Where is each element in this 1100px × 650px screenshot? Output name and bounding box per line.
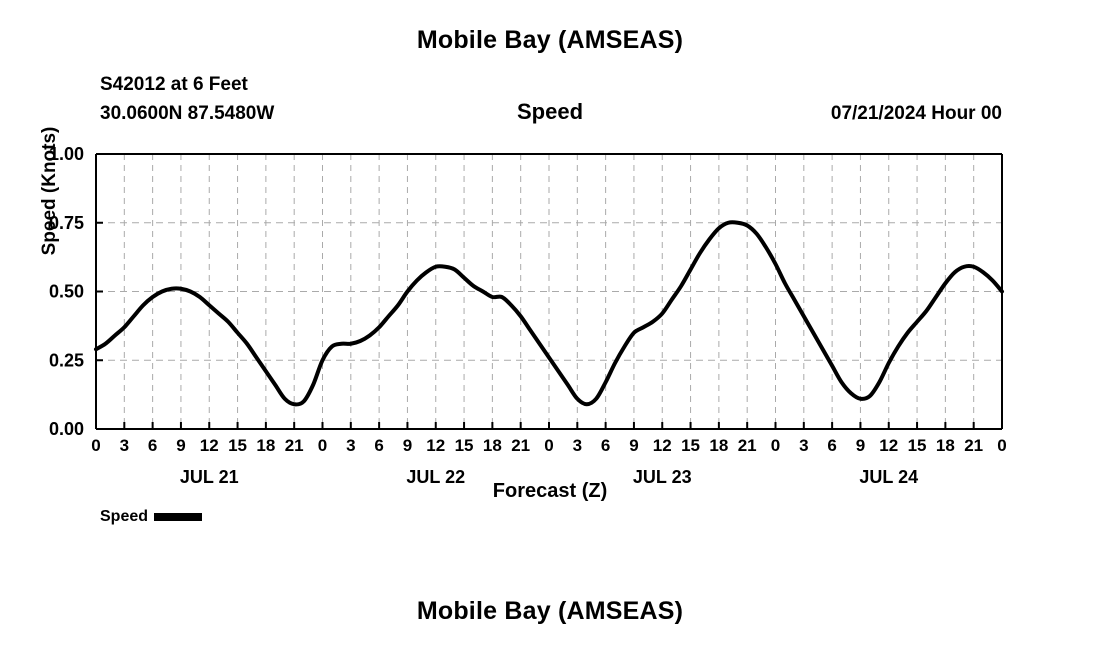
x-tick-label: 12 (879, 436, 898, 455)
x-tick-label: 3 (120, 436, 129, 455)
x-tick-label: 9 (403, 436, 412, 455)
x-tick-label: 18 (483, 436, 502, 455)
x-tick-label: 6 (601, 436, 610, 455)
y-tick-label: 0.00 (49, 419, 84, 439)
x-tick-label: 15 (908, 436, 927, 455)
y-tick-label: 0.50 (49, 282, 84, 302)
x-tick-label: 3 (799, 436, 808, 455)
x-tick-label: 18 (936, 436, 955, 455)
x-tick-label: 0 (997, 436, 1006, 455)
x-tick-label: 21 (738, 436, 757, 455)
y-tick-label: 1.00 (49, 144, 84, 164)
x-tick-label: 21 (511, 436, 530, 455)
page-title-bottom: Mobile Bay (AMSEAS) (0, 597, 1100, 626)
x-tick-label: 21 (964, 436, 983, 455)
x-tick-label: 18 (256, 436, 275, 455)
day-label: JUL 21 (180, 467, 239, 487)
x-tick-label: 12 (426, 436, 445, 455)
x-tick-label: 12 (200, 436, 219, 455)
y-tick-label: 0.75 (49, 213, 84, 233)
x-tick-label: 6 (374, 436, 383, 455)
y-tick-label: 0.25 (49, 350, 84, 370)
x-tick-label: 18 (709, 436, 728, 455)
day-label: JUL 22 (406, 467, 465, 487)
legend-label: Speed (100, 508, 148, 526)
x-tick-label: 9 (176, 436, 185, 455)
plot-area: 0.000.250.500.751.0003691215182103691215… (0, 0, 1100, 650)
x-tick-label: 9 (856, 436, 865, 455)
x-tick-label: 15 (681, 436, 700, 455)
x-tick-label: 0 (318, 436, 327, 455)
chart-page: Mobile Bay (AMSEAS) S42012 at 6 Feet 30.… (0, 0, 1100, 650)
plot-svg: 0.000.250.500.751.0003691215182103691215… (0, 0, 1100, 650)
legend-swatch-speed (154, 513, 202, 521)
x-tick-label: 3 (573, 436, 582, 455)
x-tick-label: 6 (148, 436, 157, 455)
x-tick-label: 6 (827, 436, 836, 455)
x-tick-label: 12 (653, 436, 672, 455)
x-tick-label: 0 (91, 436, 100, 455)
x-tick-label: 21 (285, 436, 304, 455)
x-tick-label: 0 (771, 436, 780, 455)
day-label: JUL 24 (859, 467, 918, 487)
x-tick-label: 9 (629, 436, 638, 455)
legend: Speed (100, 508, 202, 526)
x-tick-label: 15 (455, 436, 474, 455)
x-tick-label: 15 (228, 436, 247, 455)
day-label: JUL 23 (633, 467, 692, 487)
x-tick-label: 0 (544, 436, 553, 455)
x-tick-label: 3 (346, 436, 355, 455)
